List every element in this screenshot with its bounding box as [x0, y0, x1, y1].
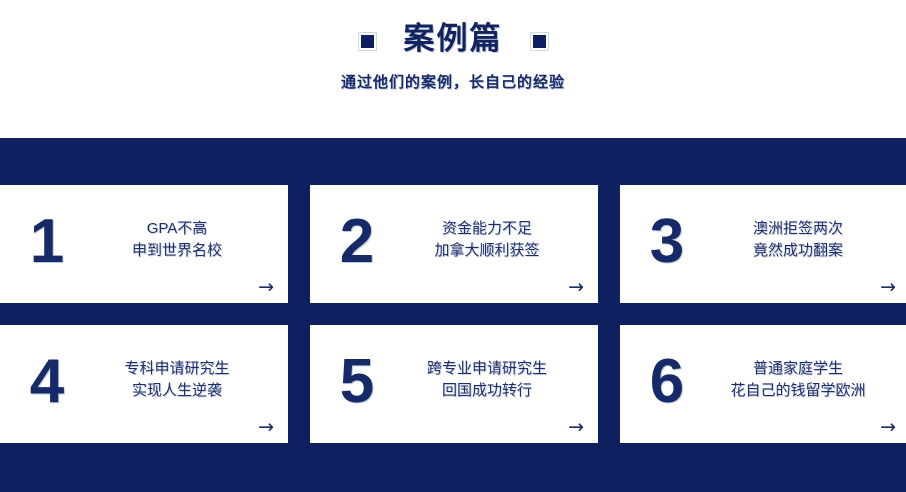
card-text: 资金能力不足 加拿大顺利获签: [390, 218, 588, 262]
case-card-4[interactable]: 4 专科申请研究生 实现人生逆袭 →: [0, 325, 288, 443]
square-bullet-right-icon: [533, 35, 546, 48]
card-line-2: 加拿大顺利获签: [390, 240, 584, 262]
card-text: GPA不高 申到世界名校: [80, 218, 278, 262]
page-title: 案例篇: [404, 22, 503, 56]
square-bullet-left-icon: [361, 35, 374, 48]
arrow-right-icon[interactable]: →: [258, 418, 274, 437]
cards-grid: 1 GPA不高 申到世界名校 → 2 资金能力不足 加拿大顺利获签 → 3 澳洲…: [0, 185, 906, 443]
case-card-5[interactable]: 5 跨专业申请研究生 回国成功转行 →: [310, 325, 598, 443]
case-card-2[interactable]: 2 资金能力不足 加拿大顺利获签 →: [310, 185, 598, 303]
card-text: 澳洲拒签两次 竟然成功翻案: [700, 218, 900, 262]
card-number: 6: [634, 351, 700, 413]
case-card-1[interactable]: 1 GPA不高 申到世界名校 →: [0, 185, 288, 303]
arrow-right-icon[interactable]: →: [568, 278, 584, 297]
card-line-1: 跨专业申请研究生: [390, 358, 584, 380]
page-header: 案例篇 通过他们的案例，长自己的经验: [0, 0, 906, 138]
card-line-2: 申到世界名校: [80, 240, 274, 262]
card-number: 4: [14, 351, 80, 413]
arrow-right-icon[interactable]: →: [258, 278, 274, 297]
card-line-2: 竟然成功翻案: [700, 240, 896, 262]
card-number: 3: [634, 211, 700, 273]
card-line-2: 回国成功转行: [390, 380, 584, 402]
case-card-6[interactable]: 6 普通家庭学生 花自己的钱留学欧洲 →: [620, 325, 906, 443]
card-line-1: 资金能力不足: [390, 218, 584, 240]
card-line-2: 实现人生逆袭: [80, 380, 274, 402]
card-number: 1: [14, 211, 80, 273]
page-subtitle: 通过他们的案例，长自己的经验: [341, 71, 565, 92]
card-text: 普通家庭学生 花自己的钱留学欧洲: [700, 358, 900, 402]
card-line-1: 专科申请研究生: [80, 358, 274, 380]
card-number: 5: [324, 351, 390, 413]
card-number: 2: [324, 211, 390, 273]
card-line-2: 花自己的钱留学欧洲: [700, 380, 896, 402]
case-card-3[interactable]: 3 澳洲拒签两次 竟然成功翻案 →: [620, 185, 906, 303]
card-text: 专科申请研究生 实现人生逆袭: [80, 358, 278, 402]
title-row: 案例篇: [361, 22, 546, 56]
card-line-1: 澳洲拒签两次: [700, 218, 896, 240]
arrow-right-icon[interactable]: →: [568, 418, 584, 437]
arrow-right-icon[interactable]: →: [880, 278, 896, 297]
cards-panel: 1 GPA不高 申到世界名校 → 2 资金能力不足 加拿大顺利获签 → 3 澳洲…: [0, 138, 906, 492]
card-text: 跨专业申请研究生 回国成功转行: [390, 358, 588, 402]
card-line-1: GPA不高: [80, 218, 274, 240]
card-line-1: 普通家庭学生: [700, 358, 896, 380]
arrow-right-icon[interactable]: →: [880, 418, 896, 437]
